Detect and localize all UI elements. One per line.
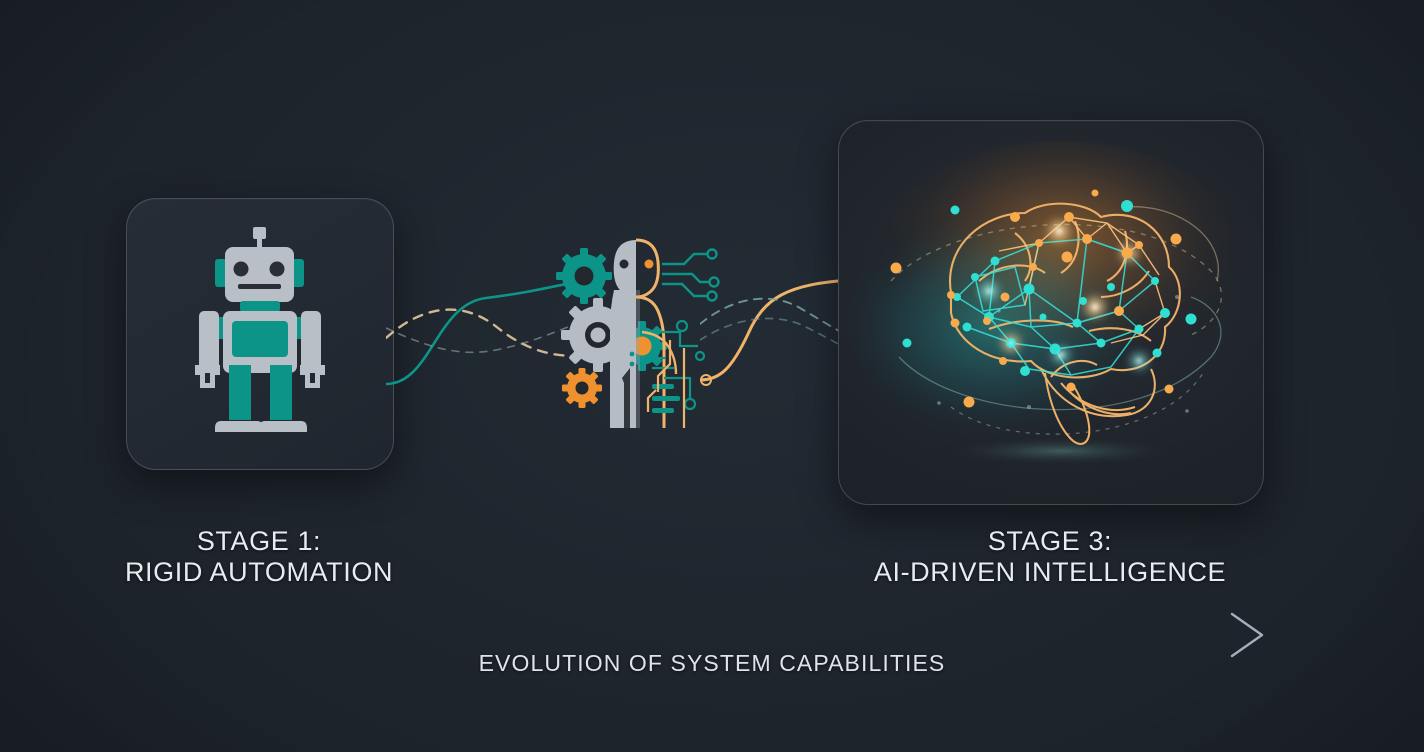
stage-3-title-line2: AI-DRIVEN INTELLIGENCE [850,557,1250,588]
retro-robot-icon [127,199,393,469]
gear-orange-small [562,368,602,408]
axis-caption: EVOLUTION OF SYSTEM CAPABILITIES [0,650,1424,677]
gear-teal-large [556,248,612,304]
stage-1-card[interactable] [126,198,394,470]
infographic-canvas: STAGE 1: RIGID AUTOMATION STAGE 3: AI-DR… [0,0,1424,752]
stage-1-title-line1: STAGE 1: [197,526,321,556]
stage-3-label: STAGE 3: AI-DRIVEN INTELLIGENCE [850,526,1250,588]
connector-left [386,280,576,400]
connector-right [700,268,852,398]
stage-3-card[interactable] [838,120,1264,505]
stage-1-label: STAGE 1: RIGID AUTOMATION [59,526,459,588]
stage-3-title-line1: STAGE 3: [988,526,1112,556]
stage-1-title-line2: RIGID AUTOMATION [59,557,459,588]
neural-brain-icon [839,121,1263,504]
